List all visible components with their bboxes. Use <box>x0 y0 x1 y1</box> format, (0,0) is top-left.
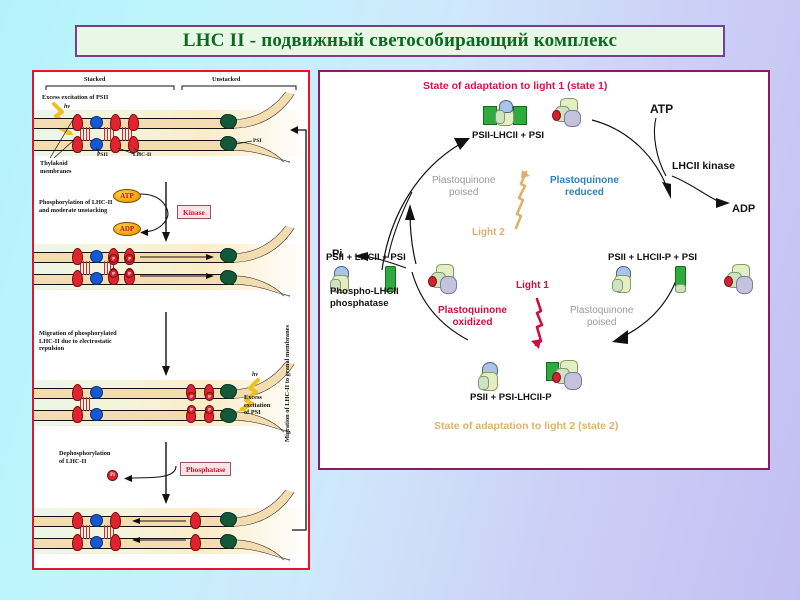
phosphate-marker: P <box>125 269 134 278</box>
label-pq-poised-left: Plastoquinone poised <box>432 175 495 199</box>
label-pq-poised-right: Plastoquinone poised <box>570 305 633 329</box>
lhcii-unit <box>128 114 139 131</box>
icon-psii-free-right <box>612 266 636 294</box>
psii-core <box>90 536 103 549</box>
psi-complex <box>220 512 237 527</box>
step2-down-arrow <box>160 182 174 244</box>
pq-reduced-text: Plastoquinone reduced <box>550 175 619 198</box>
icon-psii-bottom <box>478 362 502 392</box>
lhcii-unit <box>72 512 83 529</box>
psi-complex <box>220 270 237 285</box>
psii-core <box>90 386 103 399</box>
page-title: LHC II - подвижный светособирающий компл… <box>183 30 617 52</box>
label-phosphorylation-step: Phosphorylation of LHC-II and moderate u… <box>39 199 112 214</box>
lhcii-unit <box>72 534 83 551</box>
thylakoid-leaders <box>44 116 90 162</box>
label-state2: State of adaptation to light 2 (state 2) <box>434 420 618 432</box>
psii-core <box>90 272 103 285</box>
right-side-bracket <box>290 124 310 536</box>
lhcii-unit <box>110 534 121 551</box>
step3-down-arrow <box>160 312 174 378</box>
pq-oxidized-text: Plastoquinone oxidized <box>438 305 507 328</box>
label-pi: Pi <box>332 248 342 260</box>
psi-complex <box>220 534 237 549</box>
light1-bolt-icon <box>525 297 551 355</box>
step4-down-arrow <box>160 442 174 506</box>
light2-bolt-icon <box>508 170 534 232</box>
phosphate-marker: P <box>205 392 214 401</box>
lhcii-unit <box>72 248 83 265</box>
psii-core <box>90 514 103 527</box>
adp-badge: ADP <box>113 222 141 236</box>
psii-core <box>90 250 103 263</box>
atp-badge: ATP <box>113 189 141 203</box>
psi-leader-1 <box>234 138 254 146</box>
right-cycle-panel: State of adaptation to light 1 (state 1)… <box>318 70 770 470</box>
pq-poised-right-text: Plastoquinone poised <box>570 305 633 328</box>
label-migration-step: Migration of phosphorylated LHC-II due t… <box>39 330 117 353</box>
lhcii-unit <box>110 512 121 529</box>
label-pq-reduced: Plastoquinone reduced <box>550 175 619 199</box>
lhcii-unit <box>72 406 83 423</box>
psi-complex <box>220 114 237 129</box>
label-unstacked: Unstacked <box>212 76 240 84</box>
label-pq-oxidized: Plastoquinone oxidized <box>438 305 507 329</box>
phosphate-marker: P <box>187 405 196 414</box>
lhcii-unit <box>190 534 201 551</box>
psii-core <box>90 116 103 129</box>
psii-core <box>90 408 103 421</box>
label-phospho-lhcii-phosphatase: Phospho-LHCII phosphatase <box>330 286 399 309</box>
slide-canvas: LHC II - подвижный светособирающий компл… <box>0 0 800 600</box>
label-excess-excitation-psi: Excess excitation of PSI <box>244 394 270 417</box>
phosphate-marker: P <box>187 392 196 401</box>
label-stacked: Stacked <box>84 76 105 84</box>
lhcii-unit <box>72 384 83 401</box>
label-right-complex: PSII + LHCII-P + PSI <box>608 252 697 263</box>
migration-arrows-2 <box>130 518 190 546</box>
left-diagram-panel: Stacked Unstacked Excess excitation of P… <box>32 70 310 570</box>
phosphatase-label: Phosphatase <box>180 462 231 476</box>
lhcii-unit <box>110 114 121 131</box>
phosphate-marker: P <box>205 405 214 414</box>
label-light2: Light 2 <box>472 227 505 238</box>
migration-arrows-1 <box>140 254 220 282</box>
lhcii-unit <box>72 270 83 287</box>
label-excess-excitation-psii: Excess excitation of PSII <box>42 94 108 102</box>
icon-lhcii-p <box>673 266 687 292</box>
label-psi-1: PSI <box>253 138 262 145</box>
lhcii-unit <box>190 512 201 529</box>
phosphate-marker: P <box>109 269 118 278</box>
label-dephosphorylation-step: Dephosphorylation of LHC-II <box>59 450 110 465</box>
label-light1: Light 1 <box>516 280 549 291</box>
icon-psi-lhcii-p <box>546 360 588 392</box>
pq-poised-left-text: Plastoquinone poised <box>432 175 495 198</box>
icon-psi-left <box>428 264 460 296</box>
phosphate-marker: P <box>109 254 118 263</box>
label-thylakoid-membranes: Thylakoid membranes <box>40 160 71 175</box>
label-bottom-complex: PSII + PSI-LHCII-P <box>470 392 552 403</box>
psi-complex <box>220 248 237 263</box>
phosphate-marker: P <box>125 254 134 263</box>
complex-leaders <box>90 146 160 156</box>
icon-psi-right <box>724 264 756 296</box>
slide-title-box: LHC II - подвижный светособирающий компл… <box>75 25 725 57</box>
